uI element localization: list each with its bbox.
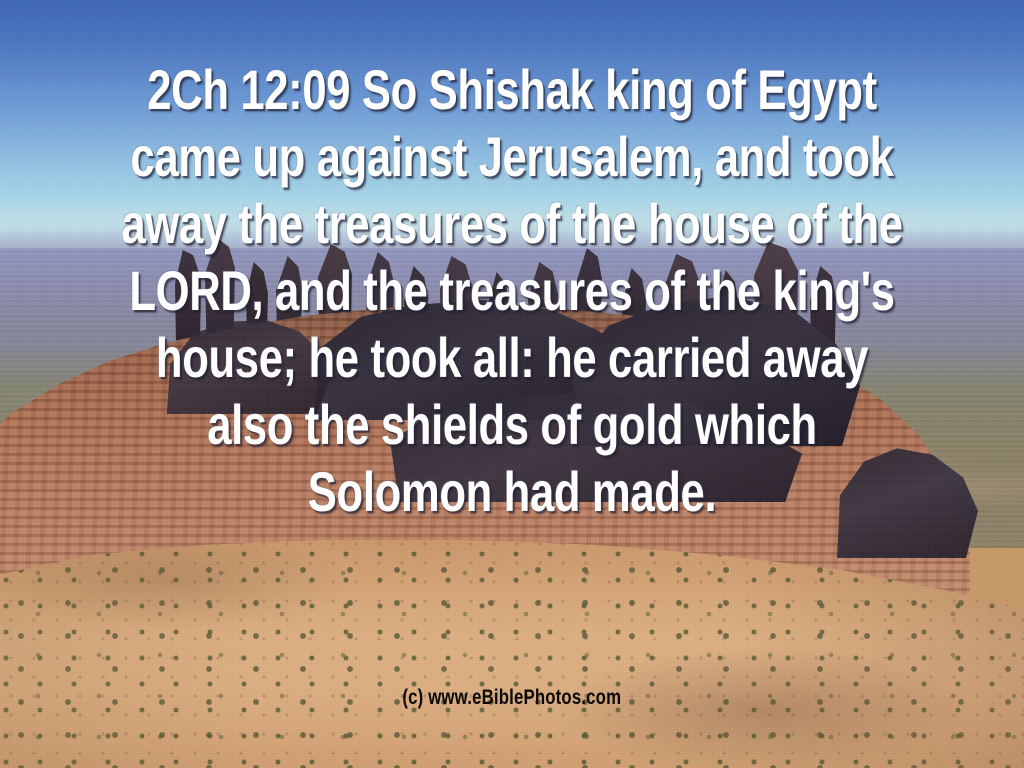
copyright-watermark: (c) www.eBiblePhotos.com [0,686,1024,710]
verse-image-canvas: 2Ch 12:09 So Shishak king of Egypt came … [0,0,1024,768]
desert-landscape-photo [0,0,1024,768]
watermark-text: (c) www.eBiblePhotos.com [403,686,622,710]
